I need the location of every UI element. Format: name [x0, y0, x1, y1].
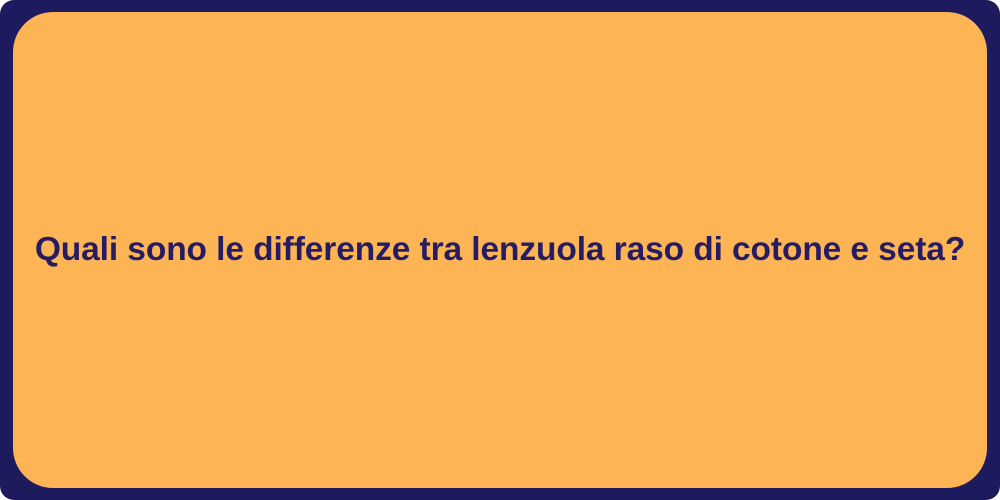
banner-panel: Quali sono le differenze tra lenzuola ra…: [13, 12, 987, 488]
page-title: Quali sono le differenze tra lenzuola ra…: [35, 229, 965, 271]
banner-frame: Quali sono le differenze tra lenzuola ra…: [0, 0, 1000, 500]
